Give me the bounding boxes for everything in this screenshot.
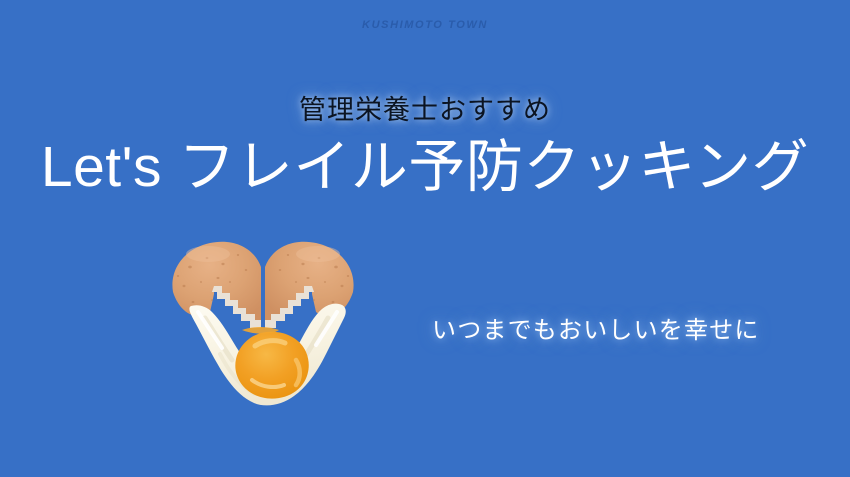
shell-highlight-left (186, 246, 230, 262)
egg-shell-left-group (172, 242, 261, 328)
shell-highlight-right (296, 246, 340, 262)
tagline-text: いつまでもおいしいを幸せに (432, 310, 760, 345)
slide-canvas: KUSHIMOTO TOWN 管理栄養士おすすめ Let's フレイル予防クッキ… (0, 0, 850, 477)
page-title: Let's フレイル予防クッキング (0, 134, 850, 201)
egg-yolk-group (235, 327, 308, 399)
eyebrow-text: 管理栄養士おすすめ (0, 88, 850, 127)
brand-label: KUSHIMOTO TOWN (0, 19, 850, 31)
cracked-egg-illustration (160, 234, 366, 410)
cracked-egg-icon (160, 234, 366, 410)
